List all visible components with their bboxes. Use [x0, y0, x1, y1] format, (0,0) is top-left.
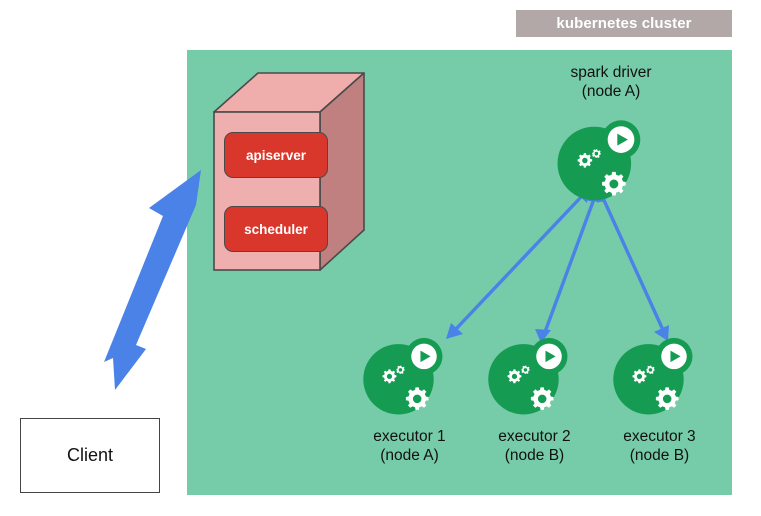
executor-2-node[interactable] — [488, 338, 567, 415]
client-label: Client — [67, 445, 113, 466]
executor-3-name: executor 3 — [597, 427, 722, 446]
spark-driver-name: spark driver — [531, 63, 691, 82]
executor-3-caption: executor 3 (node B) — [597, 427, 722, 465]
executor-2-node-id: (node B) — [472, 446, 597, 465]
executor-2-caption: executor 2 (node B) — [472, 427, 597, 465]
apiserver-service[interactable]: apiserver — [224, 132, 328, 178]
spark-driver-node[interactable] — [558, 120, 641, 200]
client-box[interactable]: Client — [20, 418, 160, 493]
driver-executor-connectors — [446, 187, 669, 343]
spark-driver-caption: spark driver (node A) — [531, 63, 691, 101]
executor-2-name: executor 2 — [472, 427, 597, 446]
apiserver-label: apiserver — [246, 148, 306, 163]
executor-1-node-id: (node A) — [347, 446, 472, 465]
executor-1-name: executor 1 — [347, 427, 472, 446]
executor-1-node[interactable] — [363, 338, 442, 415]
scheduler-label: scheduler — [244, 222, 308, 237]
spark-driver-node-id: (node A) — [531, 82, 691, 101]
scheduler-service[interactable]: scheduler — [224, 206, 328, 252]
diagram-canvas: kubernetes cluster — [0, 0, 761, 516]
executor-1-caption: executor 1 (node A) — [347, 427, 472, 465]
executor-3-node[interactable] — [613, 338, 692, 415]
spark-submit-arrow — [104, 170, 201, 390]
executor-3-node-id: (node B) — [597, 446, 722, 465]
connector-driver-executor-3 — [597, 187, 669, 341]
